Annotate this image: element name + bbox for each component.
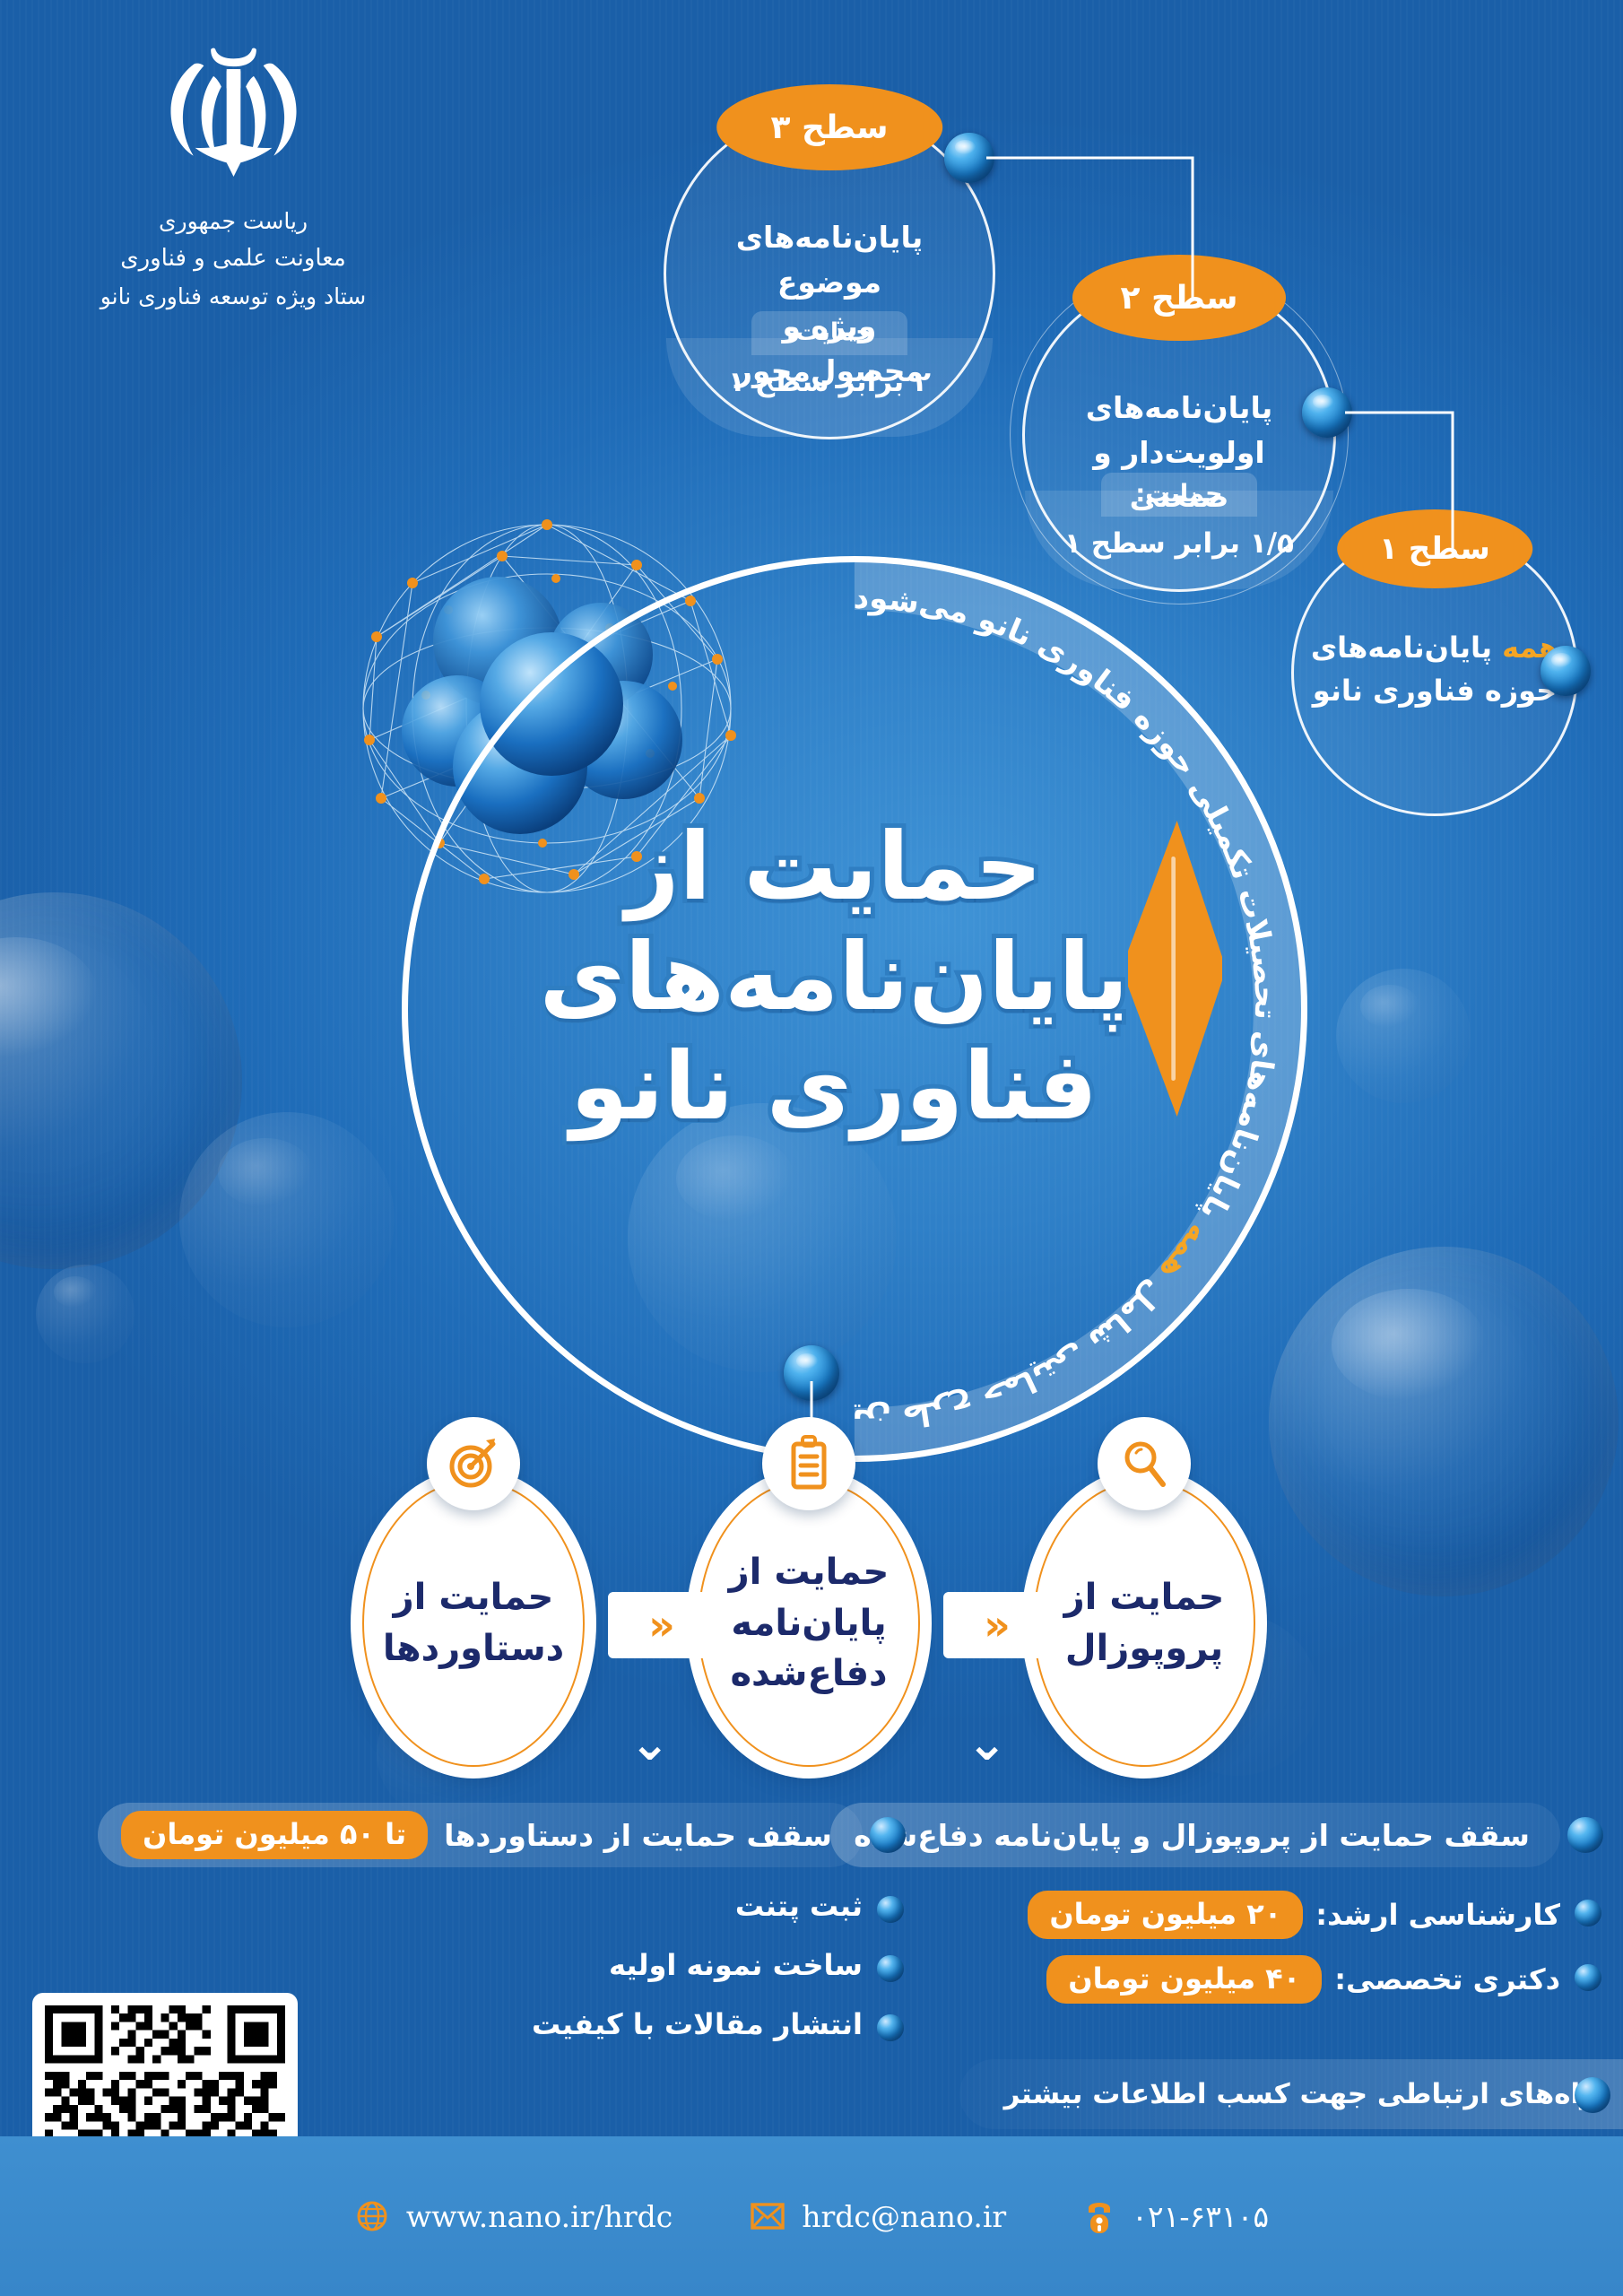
bullet-bubble-icon: [870, 1817, 906, 1853]
level-2-node: [1302, 387, 1352, 438]
support-cap-right-row-1: کارشناسی ارشد: ۲۰ میلیون تومان: [1028, 1891, 1560, 1939]
clipboard-icon: [762, 1417, 855, 1510]
process-link-left: «: [608, 1592, 716, 1658]
support-cap-left-row-2: ساخت نمونه اولیه: [609, 1948, 863, 1982]
support-cap-right-heading-text: سقف حمایت از پروپوزال و پایان‌نامه دفاع‌…: [854, 1818, 1530, 1853]
row-value-pill: ۲۰ میلیون تومان: [1028, 1891, 1303, 1939]
process-step-proposal-label: حمایت از پروپوزال: [1050, 1572, 1239, 1674]
level-1-cap: سطح ۱: [1337, 509, 1532, 588]
row-label: انتشار مقالات با کیفیت: [532, 2007, 863, 2041]
level-1-node: [1541, 646, 1591, 696]
poster-canvas: ریاست جمهوری معاونت علمی و فناوری ستاد و…: [0, 0, 1623, 2296]
level-1-circle[interactable]: سطح ۱ همه پایان‌نامه‌های حوزه فناوری نان…: [1291, 529, 1578, 816]
support-cap-left-heading-text: سقف حمایت از دستاوردها: [444, 1818, 832, 1853]
level-1-body-line1: همه پایان‌نامه‌های: [1308, 626, 1561, 669]
support-cap-left-heading: سقف حمایت از دستاوردها تا ۵۰ میلیون توما…: [98, 1803, 863, 1867]
down-chevron-icon: ⌄: [629, 1731, 670, 1755]
level-1-body: همه پایان‌نامه‌های حوزه فناوری نانو: [1308, 626, 1561, 712]
brand-line-1: ریاست جمهوری: [85, 203, 381, 239]
proc-line: دستاوردها: [383, 1623, 564, 1674]
brand-line-3: ستاد ویژه توسعه فناوری نانو: [85, 278, 381, 315]
background-bubble: [36, 1265, 135, 1363]
footer-contacts: www.nano.ir/hrdc hrdc@nano.ir: [0, 2136, 1623, 2296]
bullet-bubble-icon: [1567, 1817, 1603, 1853]
level-3-support: حمایت: ۲ برابر سطح ۱: [664, 311, 995, 398]
page-title: حمایت از پایان‌نامه‌های فناوری نانو: [502, 812, 1166, 1142]
level-3-support-label: حمایت:: [751, 311, 907, 355]
title-line-2: پایان‌نامه‌های: [502, 922, 1166, 1032]
contact-heading: راه‌های ارتباطی جهت کسب اطلاعات بیشتر: [959, 2059, 1623, 2129]
level-2-cap: سطح ۲: [1072, 255, 1286, 341]
contact-email[interactable]: hrdc@nano.ir: [750, 2199, 1006, 2234]
level-3-cap: سطح ۳: [716, 84, 942, 170]
background-bubble: [1336, 969, 1471, 1103]
proc-line: پروپوزال: [1064, 1623, 1225, 1674]
level-3-body-line1: پایان‌نامه‌های موضوع: [683, 215, 976, 304]
background-bubble: [179, 1112, 395, 1327]
proc-line: حمایت از: [729, 1547, 890, 1598]
process-step-defended-thesis-label: حمایت از پایان‌نامه دفاع‌شده: [715, 1547, 904, 1700]
bullet-bubble-icon: [1575, 2077, 1610, 2113]
proc-line: پایان‌نامه: [729, 1598, 890, 1649]
level-2-support-value: ۱/۵ برابر سطح ۱: [1022, 527, 1336, 560]
row-label: دکتری تخصصی:: [1334, 1962, 1560, 1996]
proc-line: حمایت از: [383, 1572, 564, 1623]
process-step-achievements-label: حمایت از دستاوردها: [369, 1572, 578, 1674]
bullet-bubble-icon: [877, 2014, 904, 2041]
phone-text: ۰۲۱-۶۳۱۰۵: [1132, 2199, 1269, 2234]
level-2-support: حمایت: ۱/۵ برابر سطح ۱: [1022, 473, 1336, 560]
level-1-body-line2: حوزه فناوری نانو: [1308, 669, 1561, 712]
process-step-defended-thesis[interactable]: حمایت از پایان‌نامه دفاع‌شده: [698, 1480, 920, 1767]
title-line-3: فناوری نانو: [502, 1031, 1166, 1142]
bullet-bubble-icon: [877, 1896, 904, 1923]
support-cap-right-row-2: دکتری تخصصی: ۴۰ میلیون تومان: [1046, 1955, 1560, 2004]
down-chevron-icon: ⌄: [967, 1731, 1007, 1755]
target-icon: [427, 1417, 520, 1510]
process-step-proposal[interactable]: حمایت از پروپوزال: [1033, 1480, 1255, 1767]
proc-line: دفاع‌شده: [729, 1648, 890, 1700]
contact-heading-text: راه‌های ارتباطی جهت کسب اطلاعات بیشتر: [1004, 2078, 1596, 2110]
brand-line-2: معاونت علمی و فناوری: [85, 239, 381, 278]
ring-bottom-node: [784, 1345, 839, 1401]
level-2-support-label: حمایت:: [1101, 473, 1256, 517]
support-cap-left-row-3: انتشار مقالات با کیفیت: [532, 2007, 863, 2041]
website-text: www.nano.ir/hrdc: [406, 2199, 673, 2234]
level-2-circle[interactable]: سطح ۲ پایان‌نامه‌های اولویت‌دار و صنعتی …: [1022, 278, 1336, 592]
globe-icon: [354, 2198, 390, 2234]
process-step-achievements[interactable]: حمایت از دستاوردها: [362, 1480, 585, 1767]
support-cap-left-pill: تا ۵۰ میلیون تومان: [121, 1811, 428, 1859]
support-cap-left-row-1: ثبت پتنت: [735, 1889, 863, 1923]
contact-phone[interactable]: ۰۲۱-۶۳۱۰۵: [1083, 2197, 1269, 2235]
bullet-bubble-icon: [1575, 1900, 1601, 1926]
proc-line: حمایت از: [1064, 1572, 1225, 1623]
row-label: کارشناسی ارشد:: [1315, 1898, 1560, 1932]
support-cap-right-heading: سقف حمایت از پروپوزال و پایان‌نامه دفاع‌…: [830, 1803, 1560, 1867]
level-1-rest: پایان‌نامه‌های: [1311, 631, 1492, 665]
envelope-icon: [750, 2201, 785, 2231]
bullet-bubble-icon: [877, 1955, 904, 1982]
brand-block: ریاست جمهوری معاونت علمی و فناوری ستاد و…: [85, 38, 381, 315]
email-text: hrdc@nano.ir: [802, 2199, 1006, 2234]
brand-text: ریاست جمهوری معاونت علمی و فناوری ستاد و…: [85, 203, 381, 315]
contact-website[interactable]: www.nano.ir/hrdc: [354, 2198, 673, 2234]
level-3-support-value: ۲ برابر سطح ۱: [664, 366, 995, 398]
bullet-bubble-icon: [1575, 1964, 1601, 1991]
level-2-body-line1: پایان‌نامه‌های: [1041, 386, 1317, 430]
process-link-right: «: [943, 1592, 1051, 1658]
telephone-icon: [1083, 2197, 1115, 2235]
magnifier-icon: [1098, 1417, 1191, 1510]
background-bubble: [1269, 1247, 1619, 1596]
level-3-node: [944, 133, 994, 183]
row-label: ساخت نمونه اولیه: [609, 1948, 863, 1982]
row-label: ثبت پتنت: [735, 1889, 863, 1923]
iran-emblem-icon: [146, 38, 321, 190]
row-value-pill: ۴۰ میلیون تومان: [1046, 1955, 1322, 2004]
title-line-1: حمایت از: [502, 812, 1166, 922]
